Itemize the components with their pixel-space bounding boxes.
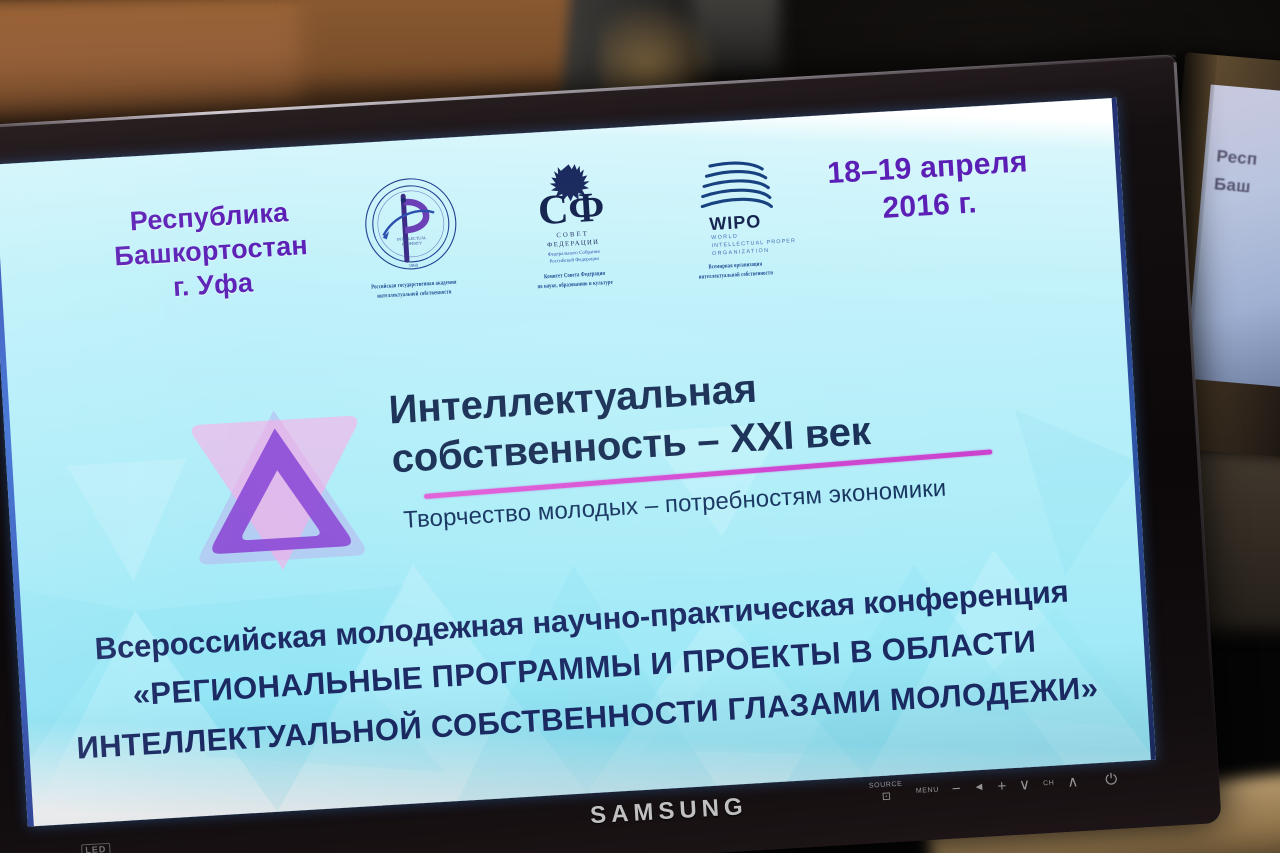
photo-scene: Респ Баш [0, 0, 1280, 853]
council-emblem-icon: СФ СОВЕТ ФЕДЕРАЦИИ Федерального Собрания… [508, 157, 634, 272]
logo-rgais: INTELLECTUAL PROPERTY 1968 Российская го… [330, 165, 494, 334]
channel-up-icon[interactable]: ∧ [1067, 774, 1079, 790]
rgais-emblem-icon: INTELLECTUAL PROPERTY 1968 [357, 167, 463, 281]
menu-button[interactable]: MENU [916, 785, 940, 795]
primary-monitor: Республика Башкортостан г. Уфа 18–19 апр… [0, 54, 1222, 853]
wipo-emblem-icon: WIPO WORLD INTELLECTUAL PROPERTY ORGANIZ… [669, 147, 795, 262]
rgais-caption: Российская государственная академия инте… [336, 275, 492, 303]
svg-text:СОВЕТ: СОВЕТ [556, 230, 589, 239]
source-button[interactable]: SOURCE ⊡ [869, 780, 904, 806]
volume-left-icon[interactable]: ◄ [973, 779, 985, 795]
svg-text:СФ: СФ [536, 184, 605, 234]
slide-location-block: Республика Башкортостан г. Уфа [43, 190, 378, 311]
svg-text:PROPERTY: PROPERTY [401, 240, 422, 246]
conference-triangle-logo-icon [178, 393, 379, 589]
svg-text:ФЕДЕРАЦИИ: ФЕДЕРАЦИИ [546, 239, 599, 249]
logo-council-of-federation: СФ СОВЕТ ФЕДЕРАЦИИ Федерального Собрания… [490, 156, 654, 325]
channel-label: CH [1043, 778, 1055, 788]
volume-up-icon[interactable]: + [997, 778, 1007, 793]
svg-text:WIPO: WIPO [708, 211, 761, 234]
presentation-slide: Республика Башкортостан г. Уфа 18–19 апр… [0, 98, 1156, 827]
led-badge: LED [81, 843, 111, 853]
svg-text:ORGANIZATION: ORGANIZATION [711, 248, 769, 257]
secondary-monitor-text-line-2: Баш [1213, 171, 1280, 214]
svg-text:1968: 1968 [408, 263, 418, 269]
svg-text:Российской Федерации: Российской Федерации [549, 257, 599, 265]
source-icon: ⊡ [869, 789, 903, 806]
logo-wipo: WIPO WORLD INTELLECTUAL PROPERTY ORGANIZ… [651, 146, 815, 315]
volume-down-icon[interactable]: − [951, 781, 961, 796]
monitor-screen: Республика Башкортостан г. Уфа 18–19 апр… [0, 98, 1156, 827]
channel-down-icon[interactable]: ∨ [1019, 777, 1031, 793]
slide-logo-strip: INTELLECTUAL PROPERTY 1968 Российская го… [330, 147, 809, 335]
slide-date-block: 18–19 апреля 2016 г. [762, 139, 1096, 234]
power-icon[interactable]: ⏻ [1105, 771, 1118, 787]
svg-text:WORLD: WORLD [710, 234, 737, 242]
